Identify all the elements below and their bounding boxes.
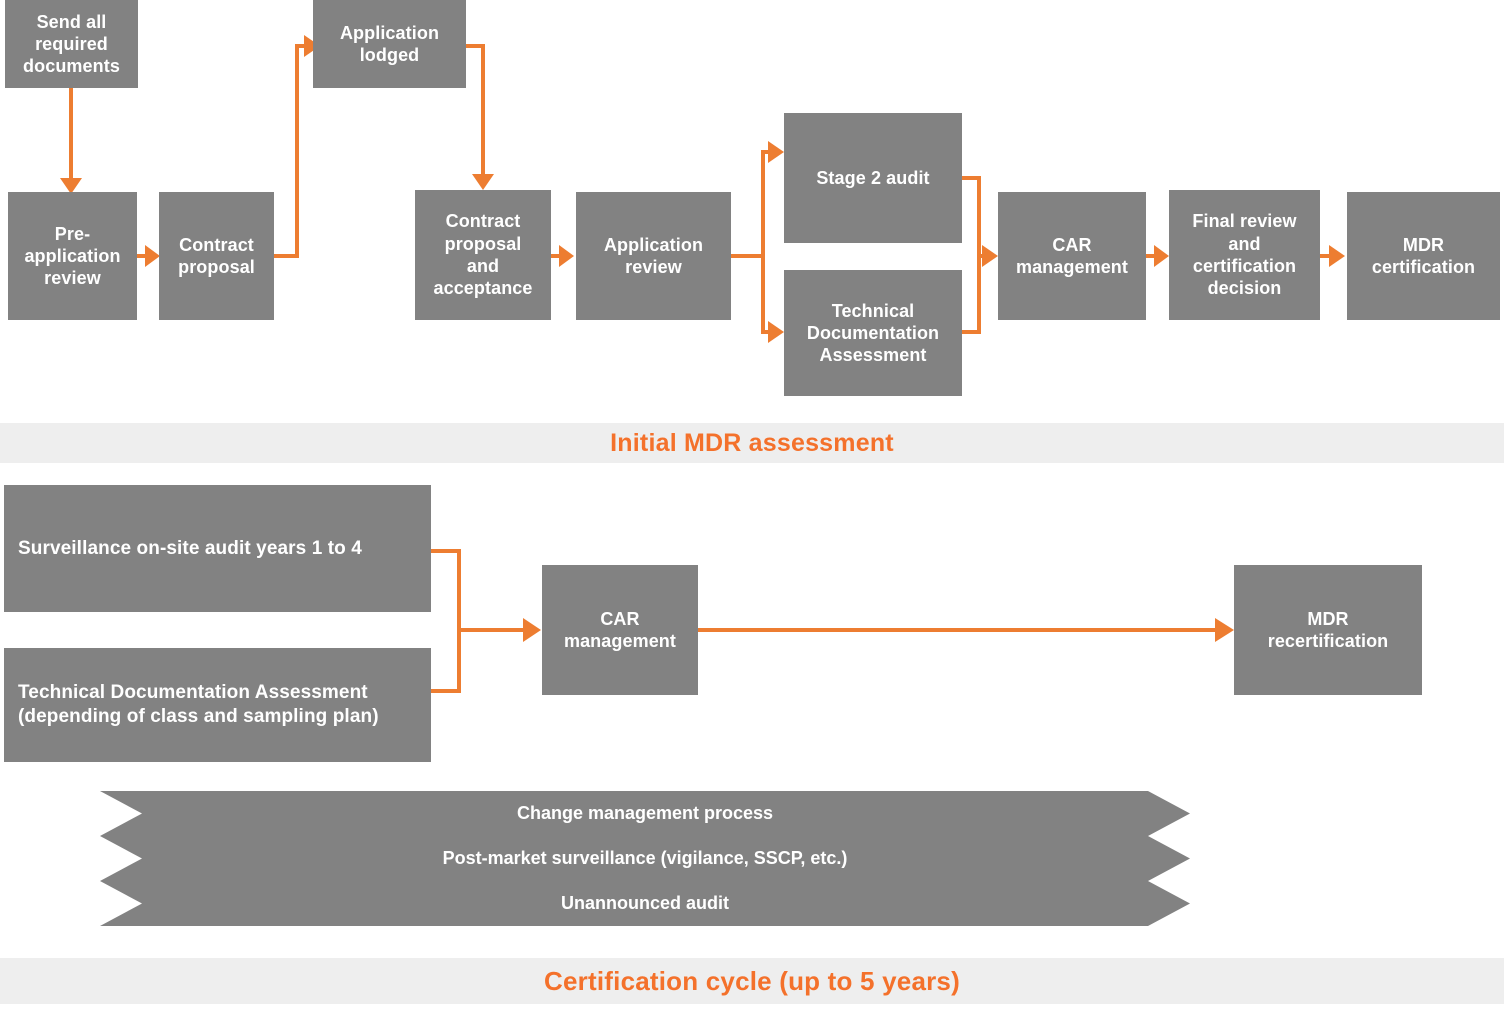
- arrowhead-appreview-to-tda: [768, 321, 784, 343]
- connector-surveillance-merge: [431, 551, 459, 630]
- node-car-management-cycle[interactable]: CAR management: [542, 565, 698, 695]
- arrowhead-prereview-to-contract: [145, 245, 160, 267]
- arrowhead-lodged-to-acceptance: [472, 174, 494, 190]
- chevron-unannounced-audit[interactable]: Unannounced audit: [100, 881, 1190, 926]
- node-contract-proposal[interactable]: Contract proposal: [159, 192, 274, 320]
- connector-lodged-to-acceptance: [466, 46, 483, 174]
- arrowhead-finalreview-to-mdrcert: [1329, 245, 1345, 267]
- arrowhead-appreview-to-stage2: [768, 141, 784, 163]
- node-application-review[interactable]: Application review: [576, 192, 731, 320]
- band-certification-cycle-label: Certification cycle (up to 5 years): [544, 966, 960, 997]
- chevron-shape: [100, 881, 1190, 926]
- node-contract-proposal-acceptance[interactable]: Contract proposal and acceptance: [415, 190, 551, 320]
- node-final-review-certification-decision[interactable]: Final review and certification decision: [1169, 190, 1320, 320]
- connector-tdacycle-merge: [431, 630, 459, 691]
- node-car-management[interactable]: CAR management: [998, 192, 1146, 320]
- band-initial-mdr-assessment: Initial MDR assessment: [0, 423, 1504, 463]
- connector-appreview-to-tda: [763, 256, 770, 332]
- node-send-documents[interactable]: Send all required documents: [5, 0, 138, 88]
- node-surveillance-audit[interactable]: Surveillance on-site audit years 1 to 4: [4, 485, 431, 612]
- node-mdr-certification[interactable]: MDR certification: [1347, 192, 1500, 320]
- arrowhead-merge-to-car: [982, 245, 998, 267]
- chevron-change-management-process[interactable]: Change management process: [100, 791, 1190, 836]
- node-technical-documentation-assessment-cycle[interactable]: Technical Documentation Assessment (depe…: [4, 648, 431, 762]
- node-application-lodged[interactable]: Application lodged: [313, 0, 466, 88]
- arrowhead-acceptance-to-appreview: [559, 245, 574, 267]
- node-stage-2-audit[interactable]: Stage 2 audit: [784, 113, 962, 243]
- chevron-shape: [100, 791, 1190, 836]
- node-mdr-recertification[interactable]: MDR recertification: [1234, 565, 1422, 695]
- connector-contract-to-lodged: [274, 46, 306, 256]
- node-pre-application-review[interactable]: Pre- application review: [8, 192, 137, 320]
- connector-stage2-merge: [962, 178, 979, 256]
- arrowhead-merge-to-car-cycle: [523, 618, 541, 642]
- connector-tda-merge: [962, 256, 979, 332]
- chevron-post-market-surveillance[interactable]: Post-market surveillance (vigilance, SSC…: [100, 836, 1190, 881]
- chevron-shape: [100, 836, 1190, 881]
- node-technical-documentation-assessment[interactable]: Technical Documentation Assessment: [784, 270, 962, 396]
- band-initial-mdr-assessment-label: Initial MDR assessment: [610, 429, 894, 458]
- mdr-process-diagram: Send all required documents Pre- applica…: [0, 0, 1504, 1010]
- connector-appreview-to-stage2: [763, 152, 770, 256]
- band-certification-cycle: Certification cycle (up to 5 years): [0, 958, 1504, 1004]
- arrowhead-car-to-finalreview: [1154, 245, 1169, 267]
- arrowhead-carcycle-to-recert: [1215, 618, 1234, 642]
